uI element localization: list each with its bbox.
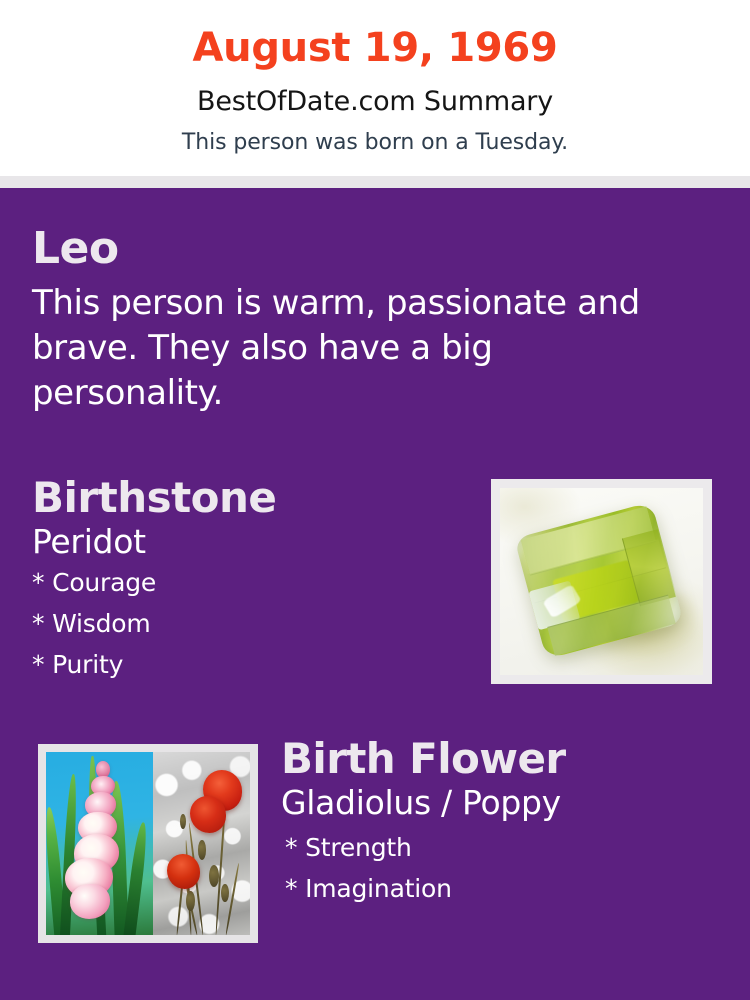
poppy-bud: [221, 884, 229, 902]
birthflower-photo-frame: [38, 744, 258, 943]
asterisk-bullet-icon: *: [32, 609, 44, 638]
list-item: * Strength: [285, 835, 731, 876]
list-item: * Wisdom: [32, 611, 472, 652]
gladiolus-photo-half: [46, 752, 153, 935]
asterisk-bullet-icon: *: [32, 650, 44, 679]
birthstone-section: Birthstone Peridot * Courage * Wisdom * …: [32, 476, 472, 693]
poppy-flower: [167, 854, 200, 889]
birthstone-heading: Birthstone: [32, 476, 472, 520]
header-separator: [0, 176, 750, 188]
birthstone-name: Peridot: [32, 520, 472, 560]
list-item: * Courage: [32, 570, 472, 611]
birthflower-trait-label: Imagination: [305, 874, 452, 903]
gladiolus-bloom: [70, 884, 111, 919]
birthflower-name: Gladiolus / Poppy: [281, 781, 731, 821]
birthflower-trait-list: * Strength * Imagination: [281, 821, 731, 917]
birthstone-trait-label: Wisdom: [52, 609, 150, 638]
birthflower-section: Birth Flower Gladiolus / Poppy * Strengt…: [281, 737, 731, 917]
poppy-flower: [190, 796, 226, 833]
birthstone-trait-label: Courage: [52, 568, 156, 597]
zodiac-description: This person is warm, passionate and brav…: [32, 272, 687, 416]
zodiac-sign-name: Leo: [32, 226, 692, 272]
birthstone-photo-frame: [491, 479, 712, 684]
poppy-bud: [198, 840, 207, 860]
page-title: August 19, 1969: [0, 0, 750, 68]
peridot-gemstone-photo: [500, 488, 703, 675]
poppy-bud: [180, 814, 186, 829]
poppy-photo-half: [153, 752, 250, 935]
birthflower-trait-label: Strength: [305, 833, 412, 862]
asterisk-bullet-icon: *: [32, 568, 44, 597]
birth-flower-photo: [46, 752, 250, 935]
zodiac-section: Leo This person is warm, passionate and …: [32, 226, 692, 416]
weekday-note: This person was born on a Tuesday.: [0, 115, 750, 154]
birthstone-trait-list: * Courage * Wisdom * Purity: [32, 560, 472, 693]
birthstone-trait-label: Purity: [52, 650, 123, 679]
list-item: * Imagination: [285, 876, 731, 917]
birthflower-heading: Birth Flower: [281, 737, 731, 781]
list-item: * Purity: [32, 652, 472, 693]
asterisk-bullet-icon: *: [285, 874, 297, 903]
asterisk-bullet-icon: *: [285, 833, 297, 862]
page-header: August 19, 1969 BestOfDate.com Summary T…: [0, 0, 750, 176]
site-summary-subtitle: BestOfDate.com Summary: [0, 68, 750, 115]
poppy-bud: [186, 891, 195, 911]
